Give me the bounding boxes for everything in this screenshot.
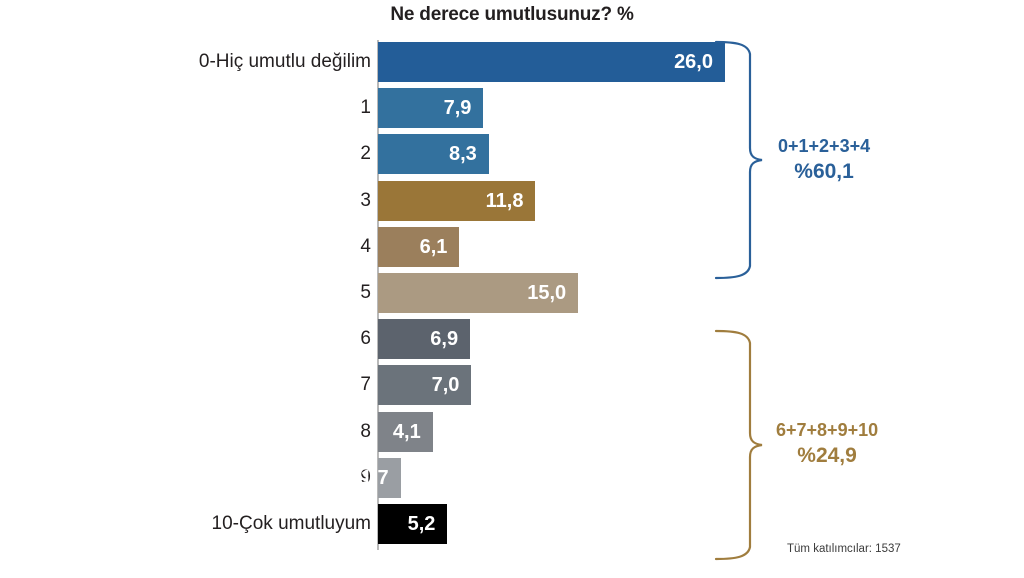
annotation-high-group: 6+7+8+9+10 %24,9	[776, 418, 878, 471]
bar-row: 17,9	[0, 88, 1024, 128]
bar-row: 46,1	[0, 227, 1024, 267]
category-label: 7	[360, 365, 371, 405]
annotation-low-percent: %60,1	[778, 158, 870, 186]
bar-row: 66,9	[0, 319, 1024, 359]
bar-value-label: 8,3	[449, 134, 477, 174]
category-label: 5	[360, 273, 371, 313]
annotation-low-group: 0+1+2+3+4 %60,1	[778, 134, 870, 187]
bar-value-label: 11,8	[486, 181, 524, 221]
category-label: 4	[360, 227, 371, 267]
bracket-high-group	[714, 327, 764, 563]
bar-value-label: 5,2	[408, 504, 436, 544]
bar-row: 515,0	[0, 273, 1024, 313]
bar-value-label: 26,0	[674, 42, 713, 82]
chart-root: Ne derece umutlusunuz? % 0-Hiç umutlu de…	[0, 0, 1024, 578]
bar-row: 77,0	[0, 365, 1024, 405]
annotation-low-sum: 0+1+2+3+4	[778, 134, 870, 158]
bar-row: 28,3	[0, 134, 1024, 174]
plot-area: 0-Hiç umutlu değilim26,017,928,3311,846,…	[0, 36, 1024, 552]
category-label: 6	[360, 319, 371, 359]
bar-value-label: 15,0	[527, 273, 566, 313]
category-label: 2	[360, 134, 371, 174]
bar-row: 311,8	[0, 181, 1024, 221]
bar-row: 0-Hiç umutlu değilim26,0	[0, 42, 1024, 82]
bar-value-label: 4,1	[393, 412, 421, 452]
bar[interactable]	[378, 42, 725, 82]
bar-value-label: 7,0	[432, 365, 460, 405]
bar-value-label: 1,7	[361, 458, 389, 498]
bar-value-label: 7,9	[444, 88, 472, 128]
bar-value-label: 6,1	[420, 227, 448, 267]
category-label: 0-Hiç umutlu değilim	[199, 42, 371, 82]
category-label: 8	[360, 412, 371, 452]
bracket-low-group	[714, 38, 764, 282]
chart-title: Ne derece umutlusunuz? %	[0, 4, 1024, 26]
bar-row: 10-Çok umutluyum5,2	[0, 504, 1024, 544]
footnote-total-participants: Tüm katılımcılar: 1537	[787, 543, 901, 555]
category-label: 3	[360, 181, 371, 221]
annotation-high-sum: 6+7+8+9+10	[776, 418, 878, 442]
category-label: 1	[360, 88, 371, 128]
category-label: 10-Çok umutluyum	[212, 504, 371, 544]
annotation-high-percent: %24,9	[776, 442, 878, 470]
bar-value-label: 6,9	[430, 319, 458, 359]
